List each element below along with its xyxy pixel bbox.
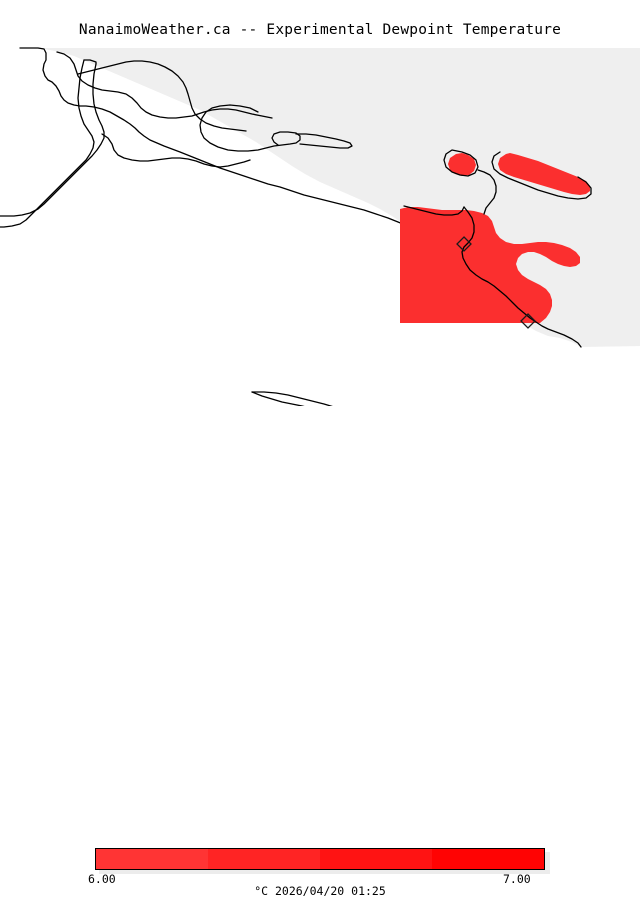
- coastline-peninsula-left: [0, 60, 94, 227]
- coastline-island-chain-south-inner: [252, 392, 408, 406]
- colorbar-segment-4: [432, 849, 544, 869]
- colorbar-segment-1: [96, 849, 208, 869]
- colorbar-segment-3: [320, 849, 432, 869]
- colorbar-segment-2: [208, 849, 320, 869]
- colorbar-caption: °C 2026/04/20 01:25: [0, 884, 640, 898]
- weather-map-page: NanaimoWeather.ca -- Experimental Dewpoi…: [0, 0, 640, 480]
- map-svg: [0, 46, 640, 406]
- map-canvas[interactable]: [0, 46, 640, 406]
- coastline-island-chain-south: [252, 392, 420, 406]
- page-title: NanaimoWeather.ca -- Experimental Dewpoi…: [0, 22, 640, 38]
- colorbar-section: 6.00 7.00 °C 2026/04/20 01:25: [0, 420, 640, 480]
- colorbar[interactable]: [95, 848, 545, 870]
